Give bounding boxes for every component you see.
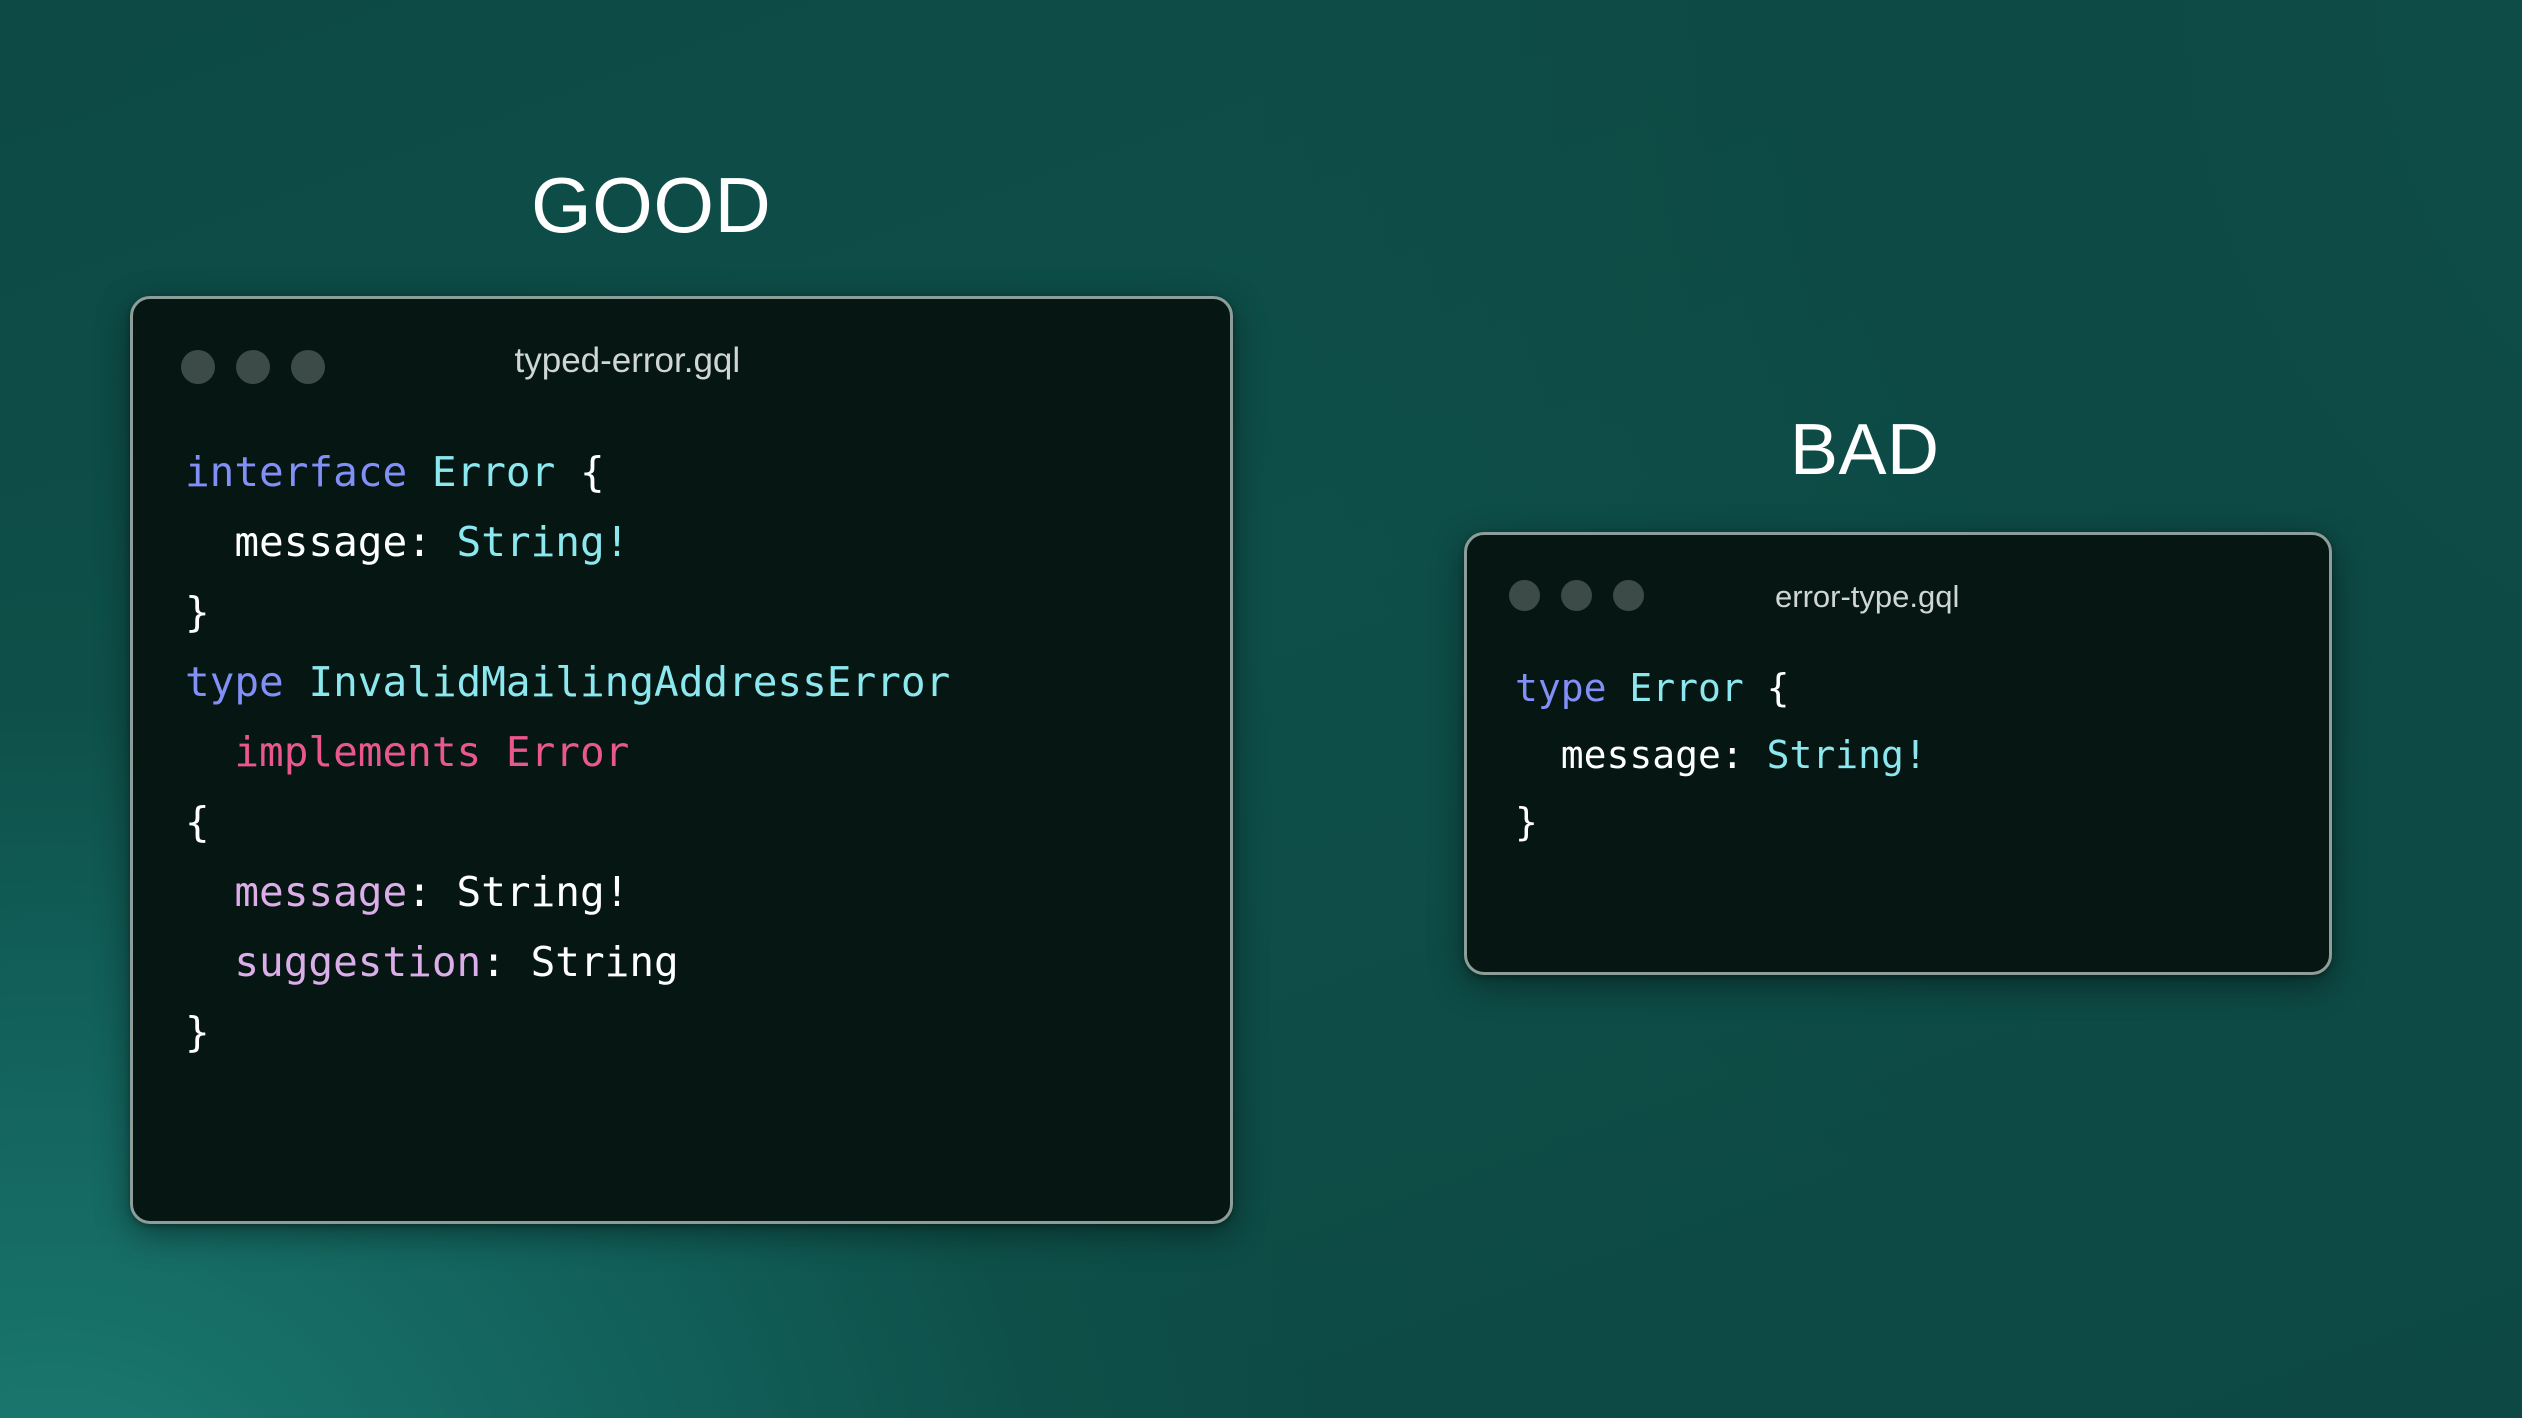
code-token-field: suggestion (234, 938, 481, 986)
code-token-plain: : String (481, 938, 678, 986)
code-token-plain (284, 658, 309, 706)
code-token-plain (1607, 666, 1630, 710)
bad-section-label: BAD (1790, 414, 1940, 486)
code-token-kw: interface (185, 448, 407, 496)
code-token-plain: : (1721, 733, 1767, 777)
code-token-plain: { (555, 448, 604, 496)
bad-window-traffic-lights (1509, 580, 1644, 611)
window-minimize-dot-icon[interactable] (236, 350, 270, 384)
code-token-plain: { (185, 798, 210, 846)
window-close-dot-icon[interactable] (181, 350, 215, 384)
code-token-plain (407, 448, 432, 496)
code-token-type: String! (457, 518, 630, 566)
code-token-plain: { (1744, 666, 1790, 710)
code-token-type: Error (1629, 666, 1743, 710)
code-token-plain: } (1515, 800, 1538, 844)
code-token-plain: } (185, 1008, 210, 1056)
good-window-titlebar: typed-error.gql (133, 299, 1230, 413)
good-code-block: interface Error { message: String! } typ… (133, 413, 1230, 1067)
bad-code-window: error-type.gql type Error { message: Str… (1464, 532, 2332, 975)
window-minimize-dot-icon[interactable] (1561, 580, 1592, 611)
code-token-plain: : (407, 518, 456, 566)
code-token-impl: implements (234, 728, 481, 776)
code-token-plain: } (185, 588, 210, 636)
code-token-kw: type (1515, 666, 1607, 710)
good-window-filename: typed-error.gql (515, 341, 741, 381)
bad-code-block: type Error { message: String! } (1467, 637, 2329, 856)
code-token-plain: : String! (407, 868, 629, 916)
code-token-type: Error (432, 448, 555, 496)
code-token-impl: Error (506, 728, 629, 776)
window-maximize-dot-icon[interactable] (1613, 580, 1644, 611)
bad-window-titlebar: error-type.gql (1467, 535, 2329, 637)
window-maximize-dot-icon[interactable] (291, 350, 325, 384)
good-window-traffic-lights (181, 350, 325, 384)
code-token-type: InvalidMailingAddressError (308, 658, 950, 706)
code-token-plain (185, 728, 234, 776)
window-close-dot-icon[interactable] (1509, 580, 1540, 611)
code-token-plain (185, 938, 234, 986)
bad-window-filename: error-type.gql (1775, 579, 1959, 615)
code-token-kw: type (185, 658, 284, 706)
good-section-label: GOOD (531, 166, 771, 244)
code-token-plain: message (185, 518, 407, 566)
good-code-window: typed-error.gql interface Error { messag… (130, 296, 1233, 1224)
code-token-type: String! (1767, 733, 1927, 777)
code-token-plain (185, 868, 234, 916)
code-token-field: message (234, 868, 407, 916)
code-token-plain: message (1515, 733, 1721, 777)
code-token-plain (481, 728, 506, 776)
